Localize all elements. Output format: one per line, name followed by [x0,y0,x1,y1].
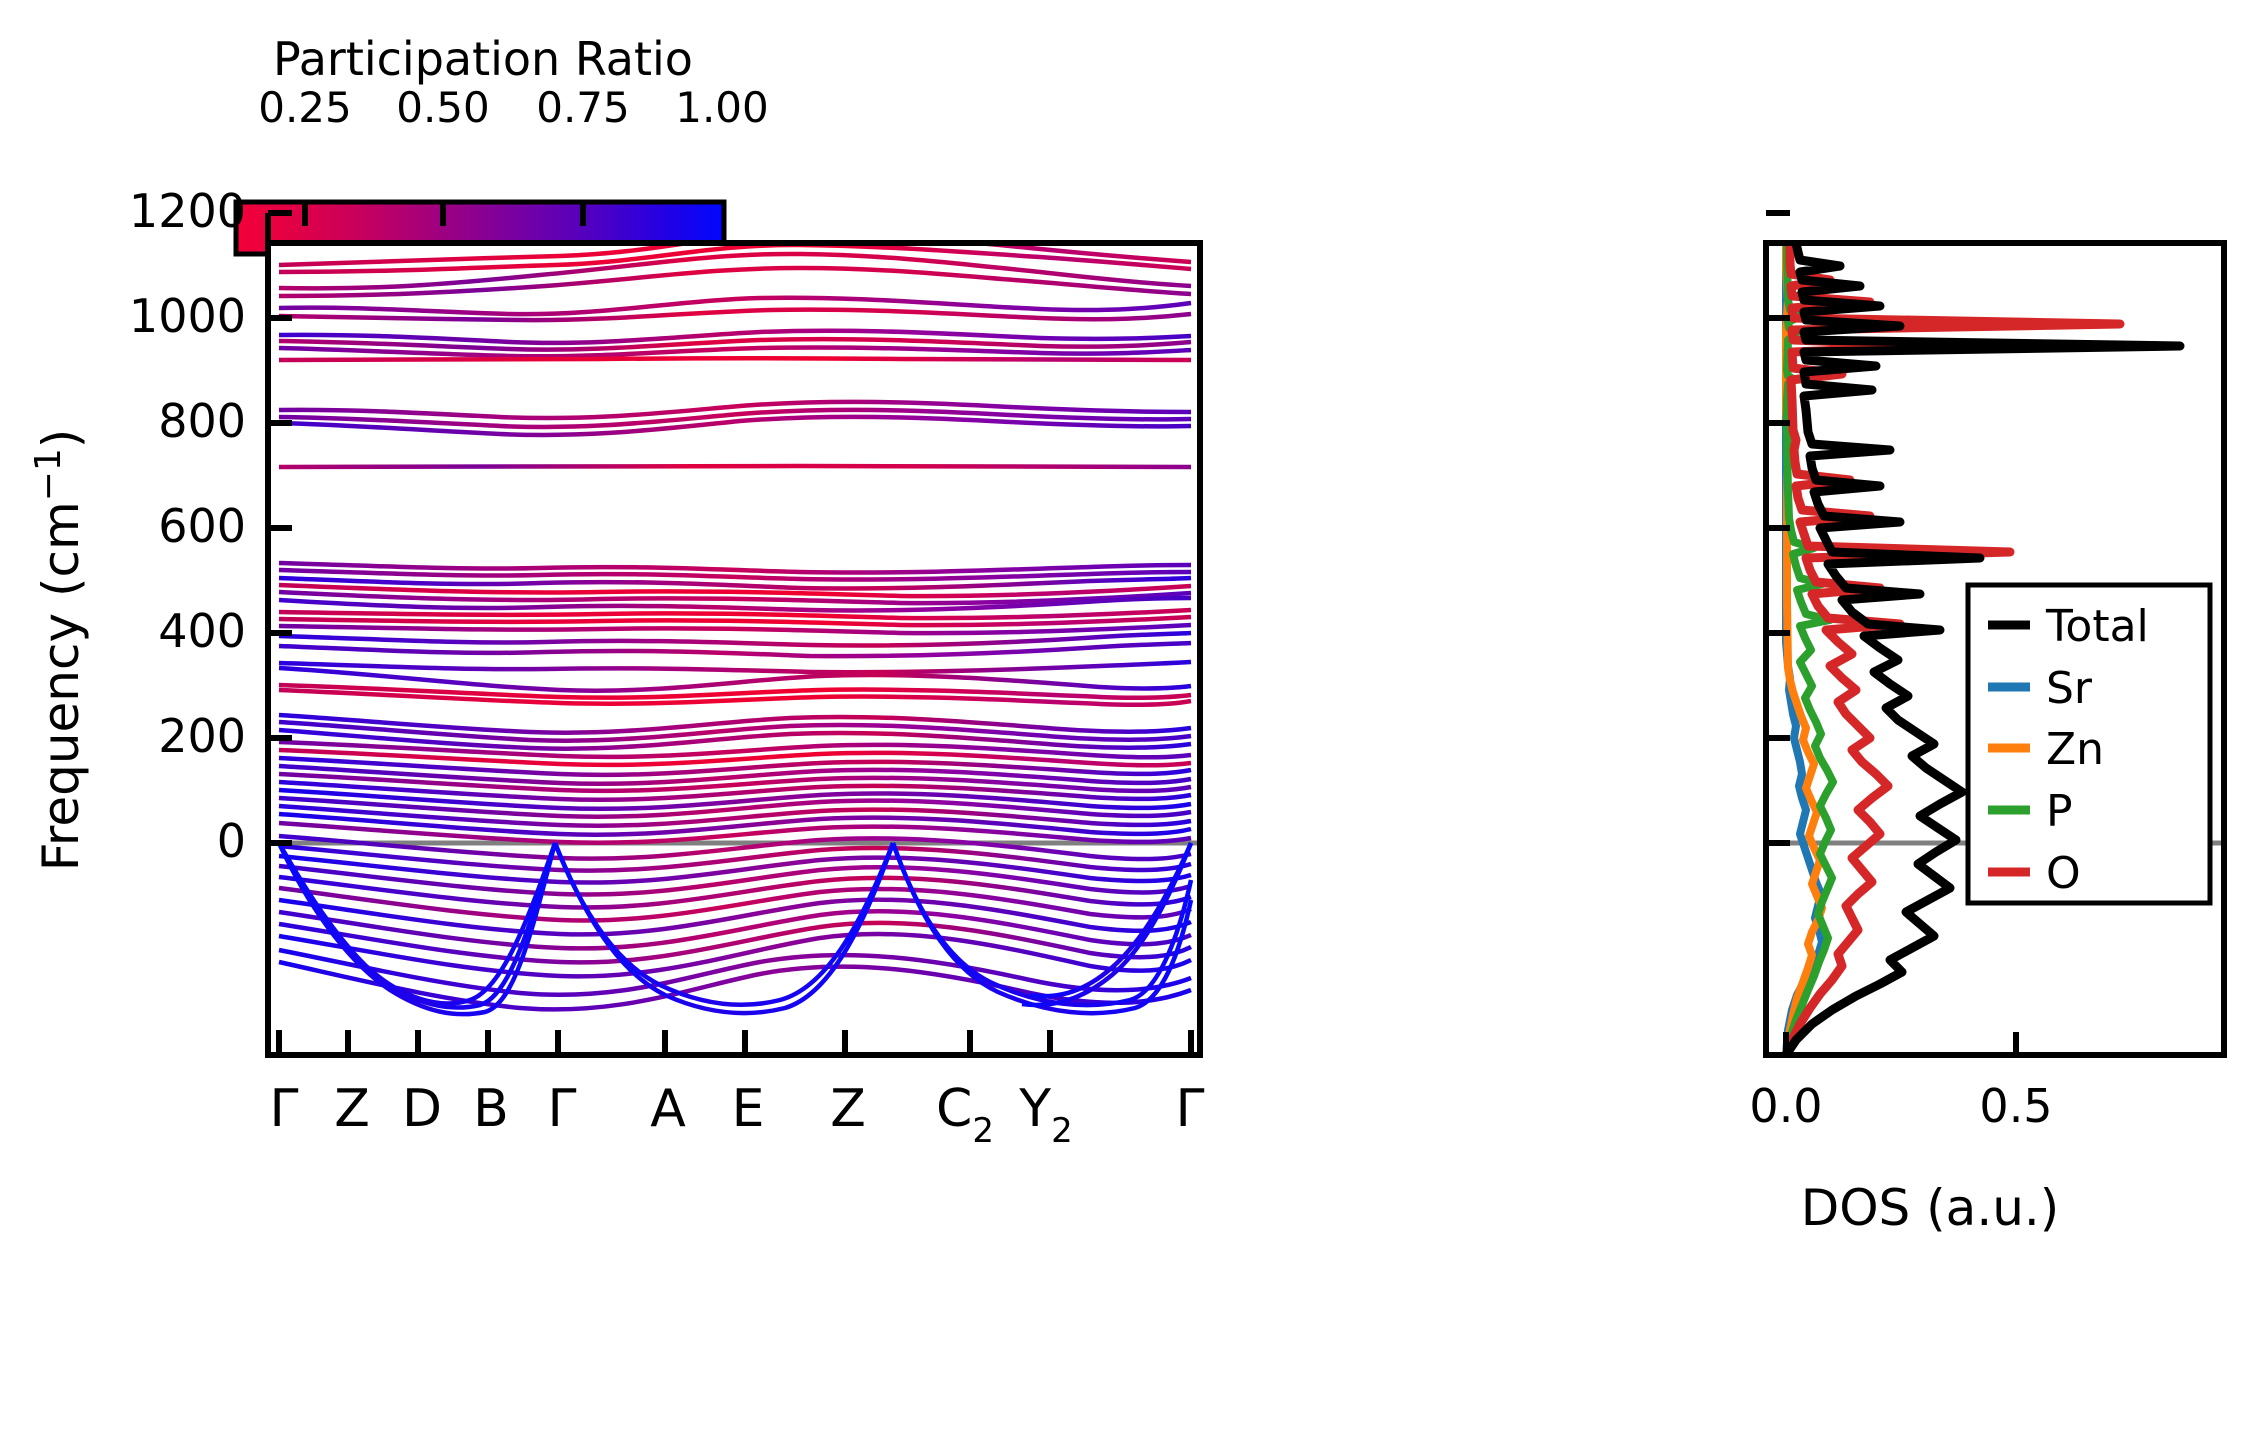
dos-xtick-label-1: 0.5 [1979,1079,2052,1133]
colorbar-group: Participation Ratio 0.25 0.50 0.75 1.00 [236,32,769,254]
colorbar-tick-3: 1.00 [675,83,769,132]
kpoint-label-6: E [732,1079,765,1139]
legend-label-zn: Zn [2046,724,2104,775]
band-panel: 1200 1000 800 600 400 200 0 Frequency (c… [28,184,1205,1151]
kpoint-label-2: D [402,1079,442,1139]
ytick-label-0: 0 [217,814,246,868]
colorbar-tick-0: 0.25 [258,83,352,132]
legend-label-o: O [2046,848,2081,899]
y-axis-title-tail: ) [32,429,90,449]
kpoint-label-9: Y2 [1018,1079,1072,1151]
figure-canvas: Participation Ratio 0.25 0.50 0.75 1.00 … [0,0,2259,1455]
y-axis-title-sup: −1 [28,448,69,501]
kpoint-label-5: A [650,1079,686,1139]
ytick-label-1200: 1200 [129,184,246,238]
ytick-label-800: 800 [158,394,246,448]
ytick-label-400: 400 [158,604,246,658]
ytick-label-600: 600 [158,499,246,553]
svg-text:Frequency (cm−1): Frequency (cm−1) [28,429,90,872]
colorbar-title: Participation Ratio [273,32,693,86]
band-high-10 [279,358,1191,360]
kpoint-label-3: B [473,1079,509,1139]
kpoint-label-8: C2 [936,1079,994,1151]
y-axis-title: Frequency (cm−1) [28,429,90,872]
kpoint-label-1: Z [334,1079,370,1139]
y-axis-title-base: Frequency (cm [32,501,90,871]
kpoint-label-0: Γ [270,1079,299,1139]
band-mid-725a [279,466,1191,467]
colorbar-tick-2: 0.75 [536,83,630,132]
colorbar-tick-1: 0.50 [396,83,490,132]
dos-legend[interactable]: Total Sr Zn P O [1968,585,2210,903]
ytick-label-200: 200 [158,709,246,763]
legend-label-total: Total [2045,601,2149,652]
kpoint-labels: Γ Z D B Γ A E Z C2 Y2 Γ [270,1079,1205,1151]
dos-panel: 0.0 0.5 DOS (a.u.) Total Sr Zn P [1749,213,2224,1237]
kpoint-label-10: Γ [1176,1079,1205,1139]
kpoint-label-4: Γ [548,1079,577,1139]
dos-axis-title: DOS (a.u.) [1801,1179,2060,1237]
kpoint-label-7: Z [830,1079,866,1139]
legend-label-sr: Sr [2046,663,2093,714]
ytick-label-1000: 1000 [129,289,246,343]
dos-xtick-label-0: 0.0 [1749,1079,1822,1133]
legend-label-p: P [2046,786,2073,837]
